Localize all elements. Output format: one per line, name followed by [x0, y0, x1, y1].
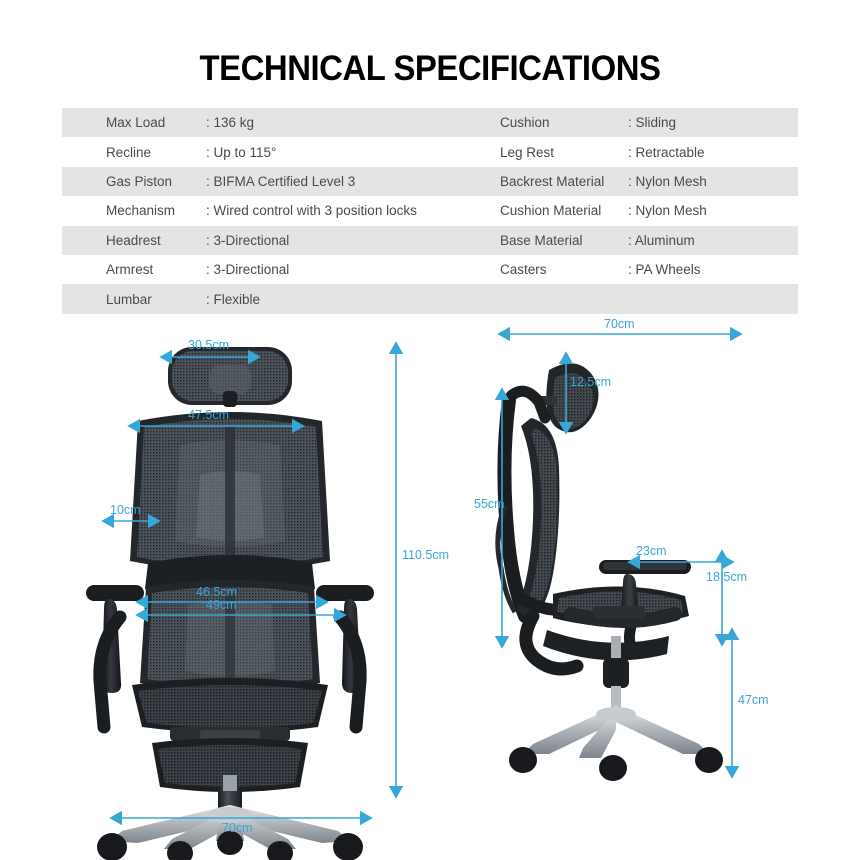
table-row: Mechanism : Wired control with 3 positio…: [62, 196, 798, 225]
spec-label: Armrest: [62, 262, 206, 277]
spec-pair-left: Recline : Up to 115°: [62, 137, 482, 166]
spec-pair-left: Armrest : 3-Directional: [62, 255, 482, 284]
spec-label: Leg Rest: [482, 145, 628, 160]
spec-label: Cushion: [482, 115, 628, 130]
spec-value: : Sliding: [628, 115, 676, 130]
dim-overall-depth: 70cm: [604, 317, 635, 331]
spec-value: : Aluminum: [628, 233, 695, 248]
dim-backrest-width: 47.5cm: [188, 408, 229, 422]
spec-value: : 136 kg: [206, 115, 254, 130]
spec-label: Max Load: [62, 115, 206, 130]
spec-pair-right: Backrest Material : Nylon Mesh: [482, 167, 798, 196]
dim-seat-width: 49cm: [206, 598, 237, 612]
spec-label: Lumbar: [62, 292, 206, 307]
table-row: Armrest : 3-Directional Casters : PA Whe…: [62, 255, 798, 284]
spec-pair-left: Headrest : 3-Directional: [62, 226, 482, 255]
dim-armrest-width: 10cm: [110, 503, 141, 517]
side-view-dimension-lines: [440, 310, 860, 860]
spec-value: : Nylon Mesh: [628, 174, 707, 189]
dim-backrest-height: 55cm: [474, 497, 505, 511]
table-row: Headrest : 3-Directional Base Material :…: [62, 226, 798, 255]
spec-value: : PA Wheels: [628, 262, 701, 277]
spec-label: Gas Piston: [62, 174, 206, 189]
table-row: Gas Piston : BIFMA Certified Level 3 Bac…: [62, 167, 798, 196]
spec-value: : Nylon Mesh: [628, 203, 707, 218]
specifications-table: Max Load : 136 kg Cushion : Sliding Recl…: [62, 108, 798, 314]
dim-armrest-height: 18.5cm: [706, 570, 747, 584]
spec-pair-left: Mechanism : Wired control with 3 positio…: [62, 196, 482, 225]
spec-value: : Flexible: [206, 292, 260, 307]
spec-value: : BIFMA Certified Level 3: [206, 174, 355, 189]
spec-pair-right: Base Material : Aluminum: [482, 226, 798, 255]
table-row: Max Load : 136 kg Cushion : Sliding: [62, 108, 798, 137]
spec-label: Recline: [62, 145, 206, 160]
spec-pair-right: Cushion Material : Nylon Mesh: [482, 196, 798, 225]
spec-value: : 3-Directional: [206, 233, 289, 248]
spec-pair-left: Max Load : 136 kg: [62, 108, 482, 137]
spec-pair-left: Gas Piston : BIFMA Certified Level 3: [62, 167, 482, 196]
page-title: TECHNICAL SPECIFICATIONS: [26, 48, 834, 90]
spec-value: : Retractable: [628, 145, 705, 160]
spec-value: : Up to 115°: [206, 145, 276, 160]
spec-pair-right: Leg Rest : Retractable: [482, 137, 798, 166]
dim-seat-height: 47cm: [738, 693, 769, 707]
spec-label: Casters: [482, 262, 628, 277]
spec-value: : Wired control with 3 position locks: [206, 203, 417, 218]
spec-label: Base Material: [482, 233, 628, 248]
dim-headrest-height: 12.5cm: [570, 375, 611, 389]
dim-armrest-depth: 23cm: [636, 544, 667, 558]
dim-base-width: 70cm: [222, 821, 253, 835]
table-row: Recline : Up to 115° Leg Rest : Retracta…: [62, 137, 798, 166]
spec-label: Cushion Material: [482, 203, 628, 218]
spec-label: Mechanism: [62, 203, 206, 218]
dim-lumbar-width: 46.5cm: [196, 585, 237, 599]
spec-value: : 3-Directional: [206, 262, 289, 277]
spec-pair-right: Cushion : Sliding: [482, 108, 798, 137]
spec-label: Backrest Material: [482, 174, 628, 189]
dim-headrest-width: 30.5cm: [188, 338, 229, 352]
spec-pair-right: Casters : PA Wheels: [482, 255, 798, 284]
dimension-diagrams: 30.5cm 47.5cm 10cm 46.5cm 49cm 110.5cm 7…: [0, 310, 860, 860]
spec-label: Headrest: [62, 233, 206, 248]
